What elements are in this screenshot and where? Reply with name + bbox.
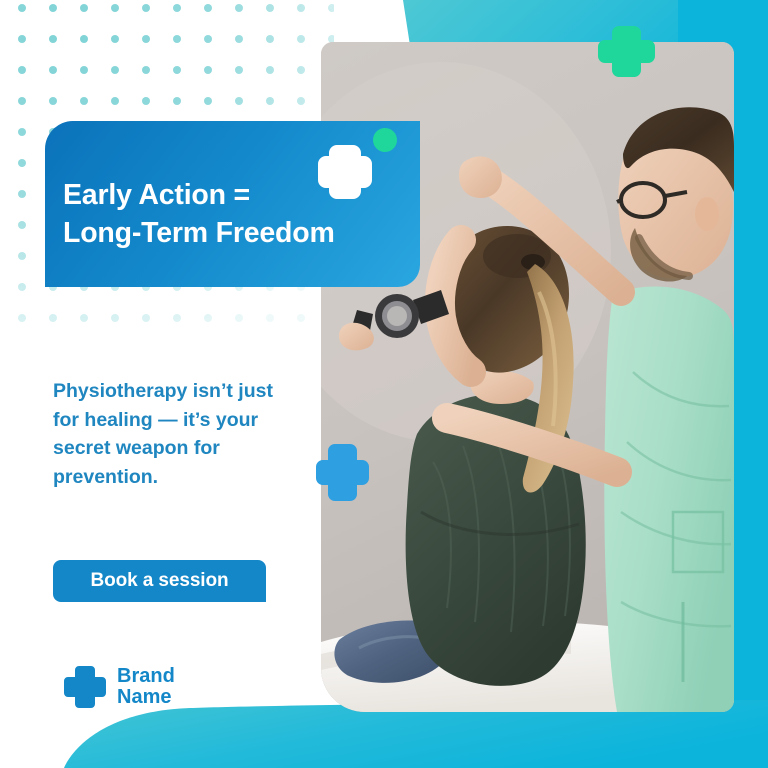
brand-logo[interactable]: Brand Name (62, 664, 175, 710)
brand-name-text: Brand Name (117, 666, 175, 708)
headline-banner: Early Action = Long-Term Freedom (45, 121, 420, 287)
poster-canvas: Early Action = Long-Term Freedom Physiot… (0, 0, 768, 768)
green-cross-icon (598, 26, 655, 77)
body-copy-text: Physiotherapy isn’t just for healing — i… (53, 377, 313, 492)
green-dot-icon (373, 128, 397, 152)
medical-cross-logo-icon (62, 664, 108, 710)
book-a-session-button[interactable]: Book a session (53, 560, 266, 602)
headline-text: Early Action = Long-Term Freedom (63, 177, 410, 252)
blue-cross-icon (316, 444, 369, 501)
